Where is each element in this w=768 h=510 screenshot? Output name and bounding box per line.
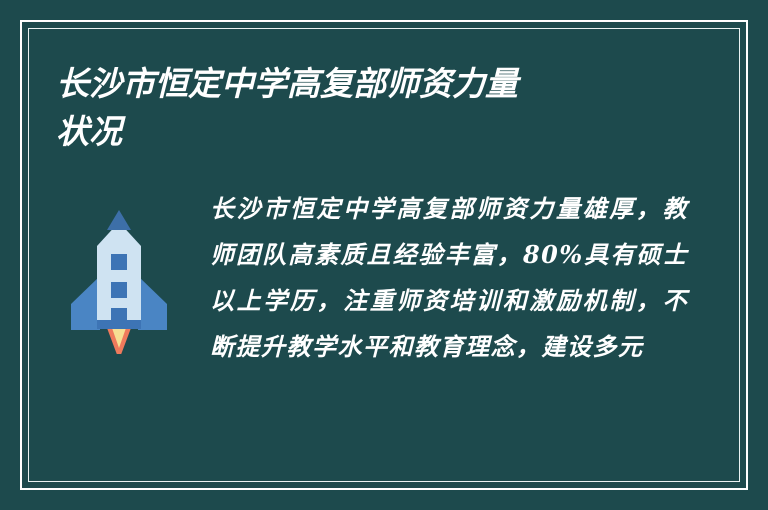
content-body-row: 长沙市恒定中学高复部师资力量雄厚，教师团队高素质且经验丰富，80%具有硕士以上学… bbox=[28, 186, 740, 370]
page-title: 长沙市恒定中学高复部师资力量 状况 bbox=[56, 60, 656, 156]
illustration-container bbox=[28, 186, 210, 354]
rocket-icon bbox=[69, 208, 169, 354]
content-card: 长沙市恒定中学高复部师资力量 状况 bbox=[28, 28, 740, 482]
body-paragraph: 长沙市恒定中学高复部师资力量雄厚，教师团队高素质且经验丰富，80%具有硕士以上学… bbox=[210, 186, 740, 370]
